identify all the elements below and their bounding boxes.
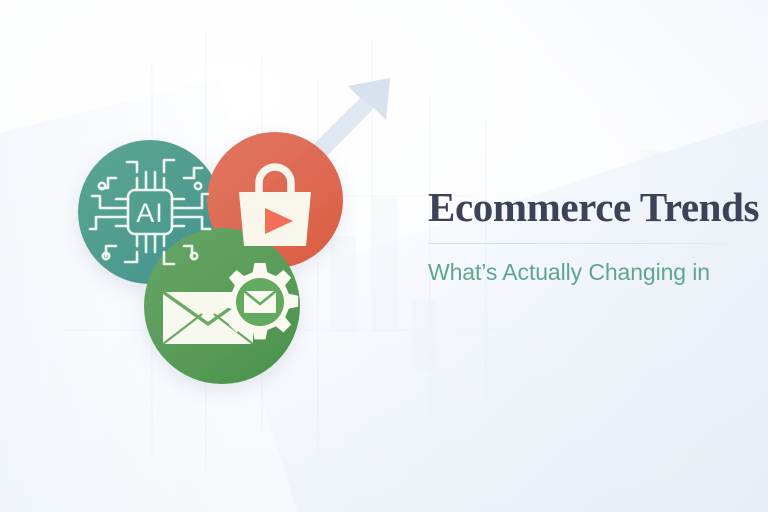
gear-icon xyxy=(222,263,298,339)
headline-block: Ecommerce Trends What’s Actually Changin… xyxy=(428,186,758,286)
ai-chip-label: AI xyxy=(136,198,164,228)
topic-venn-diagram: AI xyxy=(60,118,380,408)
ecommerce-trends-banner: AI xyxy=(0,0,768,512)
page-title: Ecommerce Trends xyxy=(428,186,758,229)
page-subtitle: What’s Actually Changing in xyxy=(428,244,758,285)
